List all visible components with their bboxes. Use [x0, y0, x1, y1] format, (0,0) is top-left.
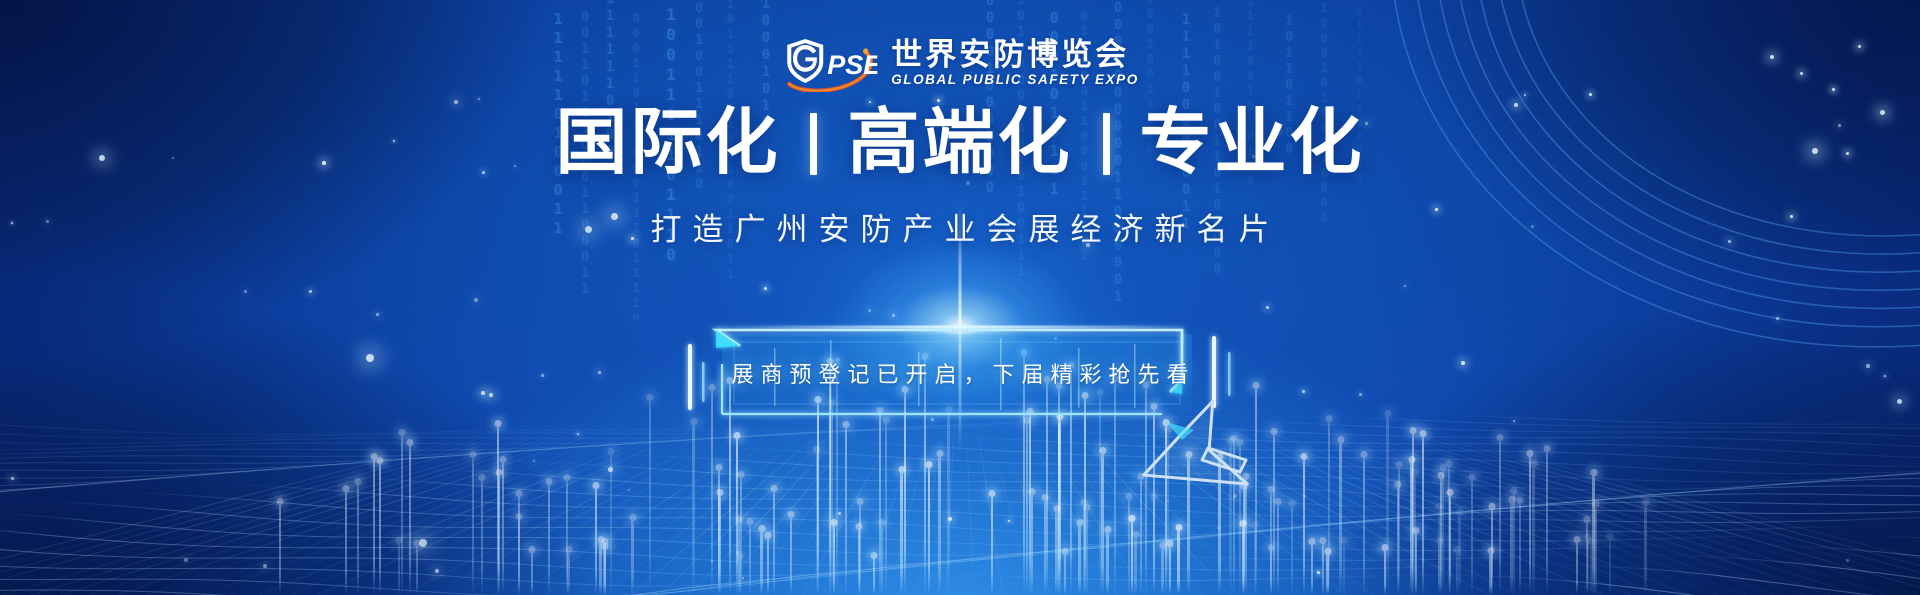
headline-segment-1: 国际化	[551, 104, 784, 183]
subheadline: 打造广州安防产业会展经济新名片	[0, 204, 1920, 249]
brand-logo-lockup: PSE 世界安防博览会 GLOBAL PUBLIC SAFETY EXPO	[781, 34, 1139, 92]
headline: 国际化 高端化 专业化	[0, 104, 1920, 183]
headline-separator-2	[1103, 113, 1110, 175]
cta-registration-banner[interactable]: 展商预登记已开启，下届精彩抢先看	[682, 318, 1238, 428]
headline-separator-1	[810, 113, 817, 175]
gpse-shield-icon: PSE	[781, 34, 877, 92]
headline-segment-2: 高端化	[843, 104, 1076, 183]
gpse-expo-banner: 1111101000110011010100011000111111110100…	[0, 0, 1920, 595]
cta-label: 展商预登记已开启，下届精彩抢先看	[682, 318, 1238, 428]
svg-text:PSE: PSE	[827, 50, 877, 80]
brand-name-en: GLOBAL PUBLIC SAFETY EXPO	[891, 73, 1139, 88]
brand-name-cn: 世界安防博览会	[891, 38, 1139, 71]
headline-segment-3: 专业化	[1136, 104, 1369, 183]
